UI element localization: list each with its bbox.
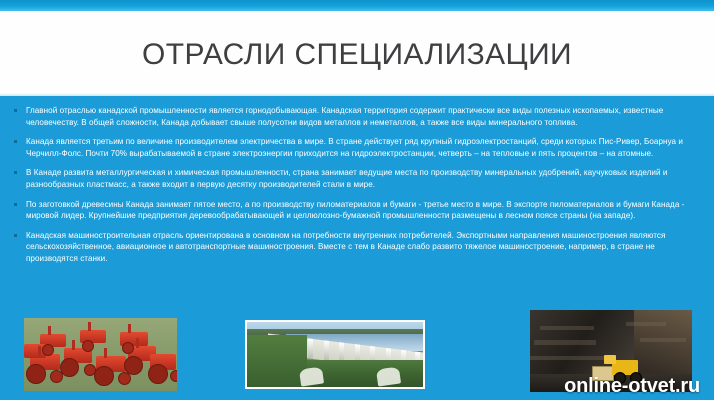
bullet-text: Канада является третьим по величине прои… (26, 137, 683, 158)
square-bullet-icon (14, 109, 17, 112)
bullet-text: По заготовкой древесины Канада занимает … (26, 200, 684, 221)
list-item: Канада является третьим по величине прои… (10, 136, 708, 159)
top-accent-bar (0, 0, 714, 11)
square-bullet-icon (14, 140, 17, 143)
square-bullet-icon (14, 171, 17, 174)
list-item: По заготовкой древесины Канада занимает … (10, 199, 708, 222)
bullet-text: В Канаде развита металлургическая и хими… (26, 168, 667, 189)
top-accent-bar-gradient (0, 0, 714, 11)
square-bullet-icon (14, 234, 17, 237)
list-item: В Канаде развита металлургическая и хими… (10, 167, 708, 190)
bullet-text: Канадская машиностроительная отрасль ори… (26, 231, 665, 263)
bullet-list: Главной отраслью канадской промышленност… (10, 105, 708, 265)
slide-body: Главной отраслью канадской промышленност… (0, 96, 714, 400)
page-title: ОТРАСЛИ СПЕЦИАЛИЗАЦИИ (0, 38, 714, 72)
bullet-text: Главной отраслью канадской промышленност… (26, 106, 663, 127)
list-item: Канадская машиностроительная отрасль ори… (10, 230, 708, 265)
presentation-slide: ОТРАСЛИ СПЕЦИАЛИЗАЦИИ Главной отраслью к… (0, 0, 714, 400)
square-bullet-icon (14, 203, 17, 206)
site-watermark: online-otvet.ru (564, 375, 700, 398)
list-item: Главной отраслью канадской промышленност… (10, 105, 708, 128)
